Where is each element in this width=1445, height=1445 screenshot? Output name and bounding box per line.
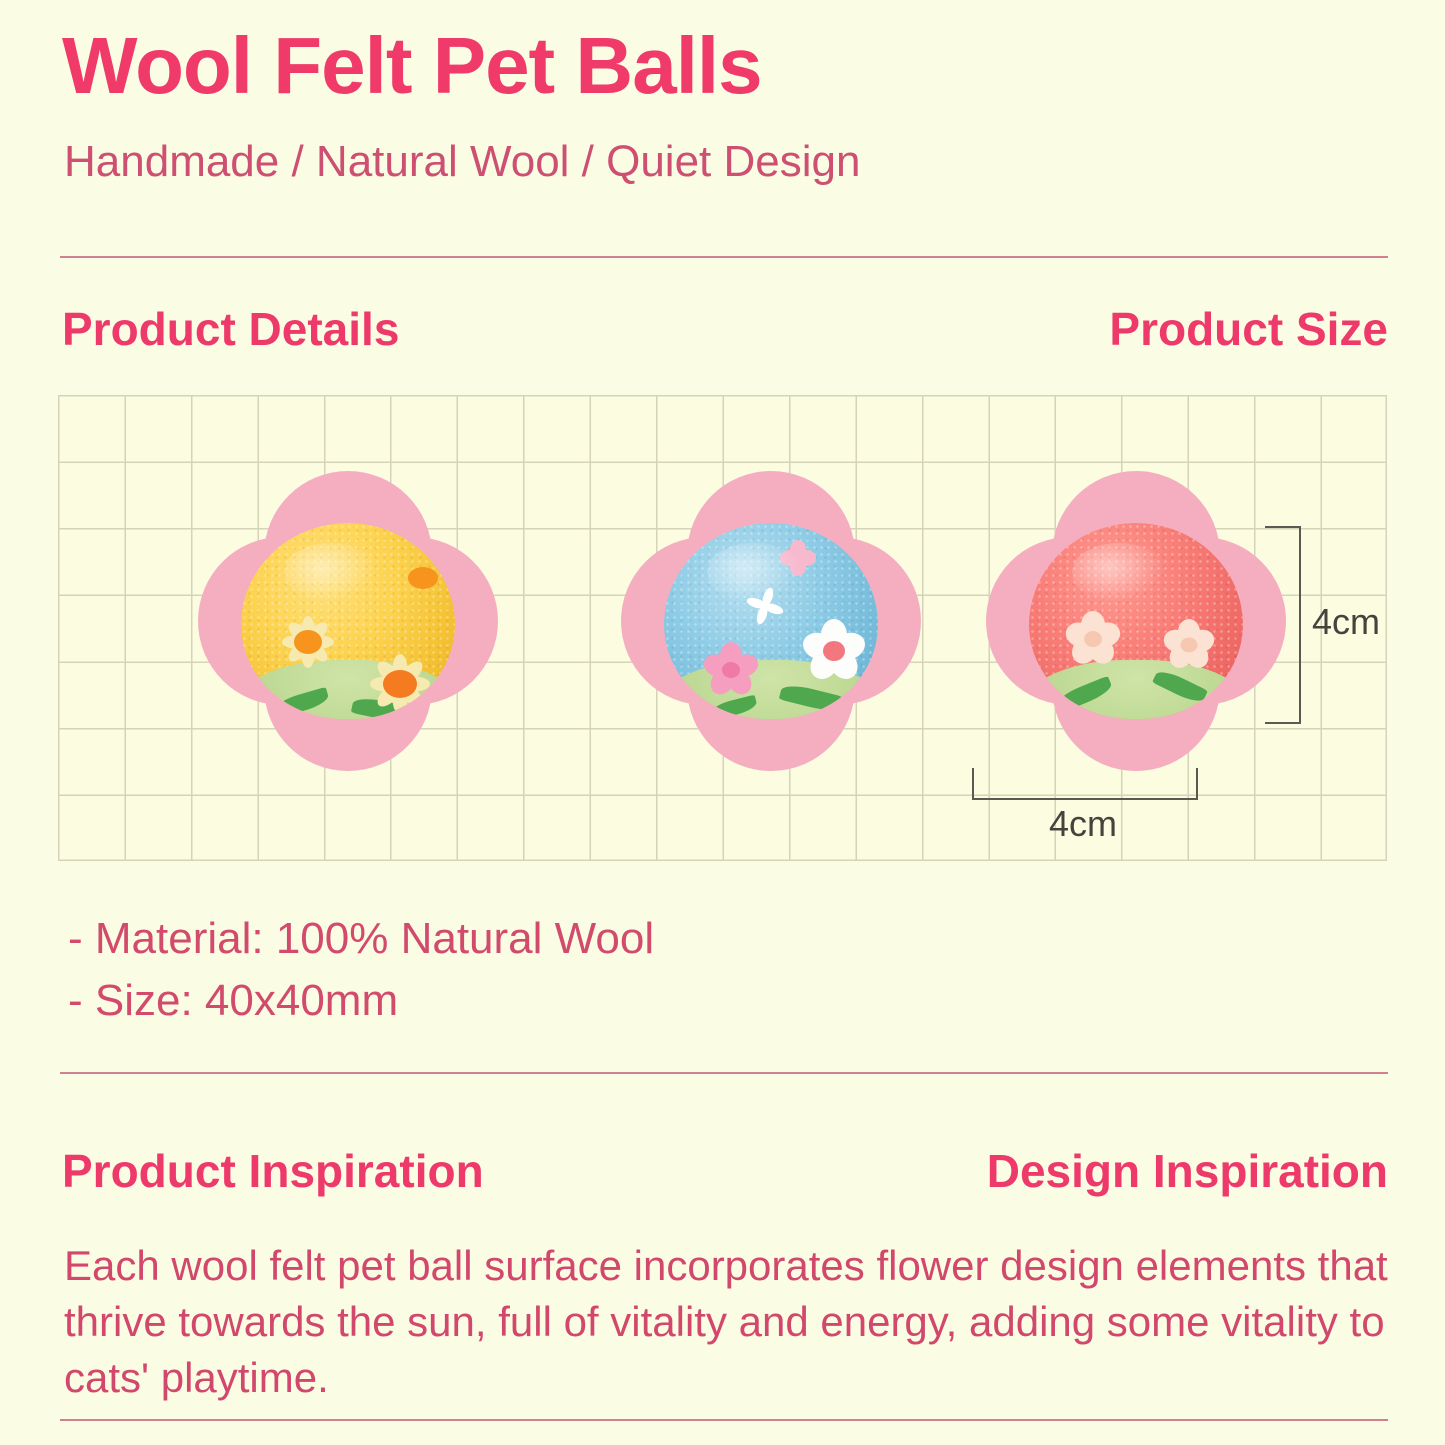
- heading-product-details: Product Details: [62, 306, 399, 352]
- heading-product-inspiration: Product Inspiration: [62, 1148, 484, 1194]
- page-title: Wool Felt Pet Balls: [62, 26, 762, 106]
- inspiration-paragraph: Each wool felt pet ball surface incorpor…: [64, 1238, 1394, 1406]
- divider-top: [60, 256, 1388, 258]
- white-flower-icon: [792, 609, 876, 693]
- dimension-label-width: 4cm: [972, 806, 1194, 842]
- product-item-coral: [966, 471, 1306, 771]
- heading-product-size: Product Size: [1109, 306, 1388, 352]
- heading-design-inspiration: Design Inspiration: [987, 1148, 1388, 1194]
- product-item-yellow: [178, 471, 518, 771]
- page-subtitle: Handmade / Natural Wool / Quiet Design: [64, 140, 860, 184]
- spec-item-material: - Material: 100% Natural Wool: [68, 908, 654, 970]
- wool-felt-ball-coral: [1029, 523, 1243, 719]
- sunflower-icon: [399, 554, 447, 602]
- pink-flower-icon: [694, 633, 768, 707]
- cream-blossom-icon: [1153, 609, 1225, 681]
- spec-item-size: - Size: 40x40mm: [68, 970, 654, 1032]
- infographic-page: Wool Felt Pet Balls Handmade / Natural W…: [0, 0, 1445, 1445]
- cream-blossom-icon: [1055, 601, 1131, 677]
- dimension-label-height: 4cm: [1312, 604, 1380, 640]
- wool-felt-ball-blue: [664, 523, 878, 719]
- dimension-bracket-width: [972, 768, 1198, 800]
- spec-list: - Material: 100% Natural Wool - Size: 40…: [68, 908, 654, 1033]
- sunflower-icon: [275, 609, 341, 675]
- dimension-bracket-height: [1265, 526, 1301, 724]
- sunflower-icon: [361, 645, 439, 719]
- product-item-blue: [601, 471, 941, 771]
- divider-middle: [60, 1072, 1388, 1074]
- wool-felt-ball-yellow: [241, 523, 455, 719]
- divider-bottom: [60, 1419, 1388, 1421]
